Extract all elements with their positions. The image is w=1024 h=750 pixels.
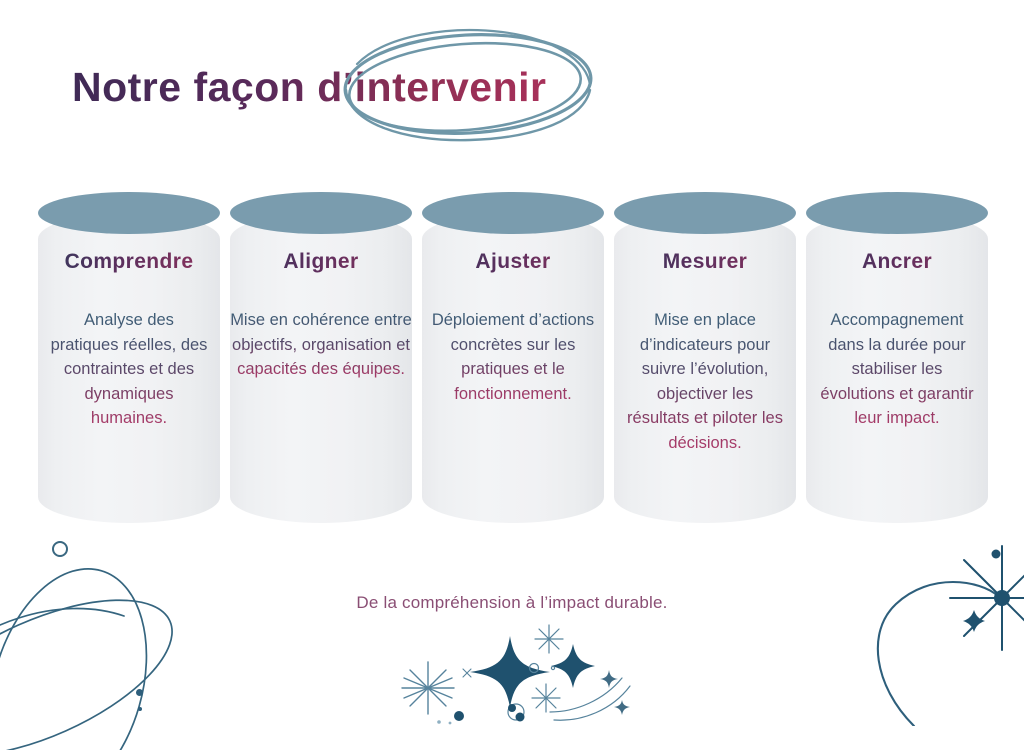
cylinder-top-ellipse <box>230 192 412 234</box>
cylinder-top-ellipse <box>614 192 796 234</box>
arc-starburst-decoration-icon <box>846 536 1024 726</box>
cylinder-card-aligner[interactable]: Aligner Mise en cohérence entre objectif… <box>230 192 412 527</box>
cylinder-body-text: Déploiement d’actions concrètes sur les … <box>416 308 610 406</box>
cylinder-content: Aligner Mise en cohérence entre objectif… <box>224 250 418 382</box>
cylinder-heading: Ancrer <box>800 250 994 274</box>
cylinder-card-comprendre[interactable]: Comprendre Analyse des pratiques réelles… <box>38 192 220 527</box>
page-title: Notre façon d’intervenir <box>72 64 546 111</box>
title-area: Notre façon d’intervenir <box>0 0 1024 170</box>
cylinder-heading: Comprendre <box>32 250 226 274</box>
cylinder-content: Ancrer Accompagnement dans la durée pour… <box>800 250 994 431</box>
cylinder-heading: Mesurer <box>608 250 802 274</box>
cylinder-content: Comprendre Analyse des pratiques réelles… <box>32 250 226 431</box>
dot-decoration-icon <box>138 707 142 711</box>
cylinder-body-text: Mise en cohérence entre objectifs, organ… <box>224 308 418 382</box>
cylinder-body-text: Accompagnement dans la durée pour stabil… <box>800 308 994 431</box>
dot-decoration-icon <box>136 689 143 696</box>
cylinder-top-ellipse <box>806 192 988 234</box>
cylinder-card-ancrer[interactable]: Ancrer Accompagnement dans la durée pour… <box>806 192 988 527</box>
cylinder-card-ajuster[interactable]: Ajuster Déploiement d’actions concrètes … <box>422 192 604 527</box>
hollow-circle-decoration-icon <box>52 541 68 557</box>
cylinder-body-text: Mise en place d’indicateurs pour suivre … <box>608 308 802 455</box>
cylinder-heading: Aligner <box>224 250 418 274</box>
cylinder-top-ellipse <box>38 192 220 234</box>
cylinder-content: Mesurer Mise en place d’indicateurs pour… <box>608 250 802 455</box>
cylinder-card-mesurer[interactable]: Mesurer Mise en place d’indicateurs pour… <box>614 192 796 527</box>
cylinder-heading: Ajuster <box>416 250 610 274</box>
cylinder-top-ellipse <box>422 192 604 234</box>
footer-caption: De la compréhension à l’impact durable. <box>0 593 1024 613</box>
sparkle-cluster-decoration-icon <box>398 616 648 726</box>
cylinder-content: Ajuster Déploiement d’actions concrètes … <box>416 250 610 406</box>
cylinder-body-text: Analyse des pratiques réelles, des contr… <box>32 308 226 431</box>
cylinder-row: Comprendre Analyse des pratiques réelles… <box>38 192 990 532</box>
ellipse-arcs-decoration-icon <box>0 560 214 750</box>
